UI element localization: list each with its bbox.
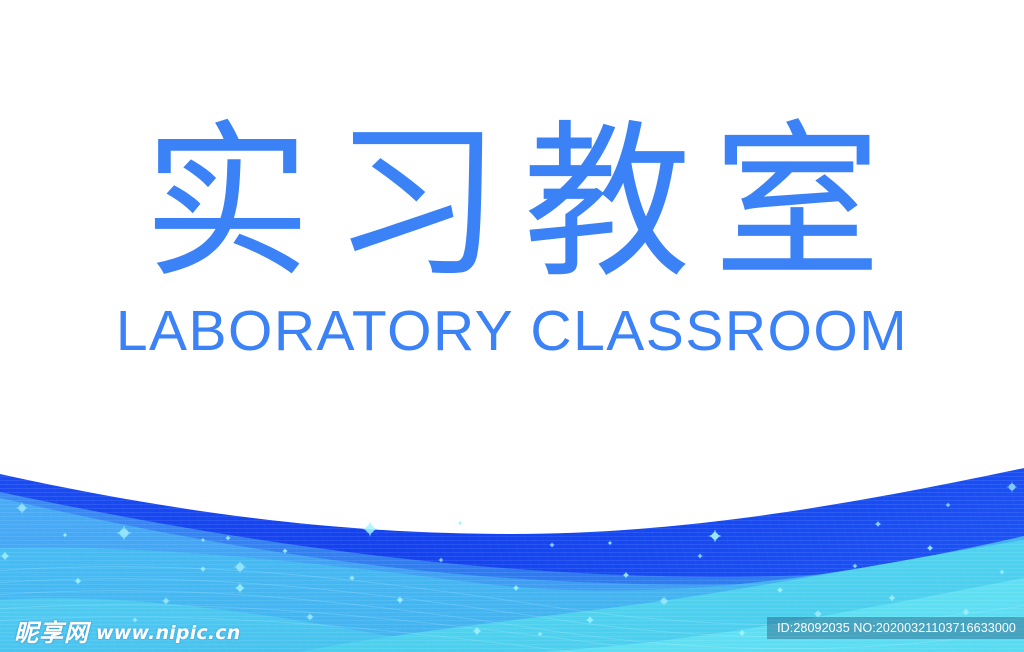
watermark-branding: 昵享网 www.nipic.cn: [14, 621, 240, 645]
watermark-url: www.nipic.cn: [96, 624, 240, 645]
title-block: 实习教室 LABORATORY CLASSROOM: [0, 118, 1024, 360]
poster-canvas: 实习教室 LABORATORY CLASSROOM 昵享网 www.nipic.…: [0, 0, 1024, 652]
sparkle-star-icon: [458, 521, 463, 526]
page-subtitle-english: LABORATORY CLASSROOM: [0, 303, 1024, 360]
watermark-id-strip: ID:28092035 NO:20200321103716633000: [767, 617, 1024, 640]
page-title-chinese: 实习教室: [0, 118, 1024, 289]
nipic-logo: 昵享网: [14, 621, 89, 645]
